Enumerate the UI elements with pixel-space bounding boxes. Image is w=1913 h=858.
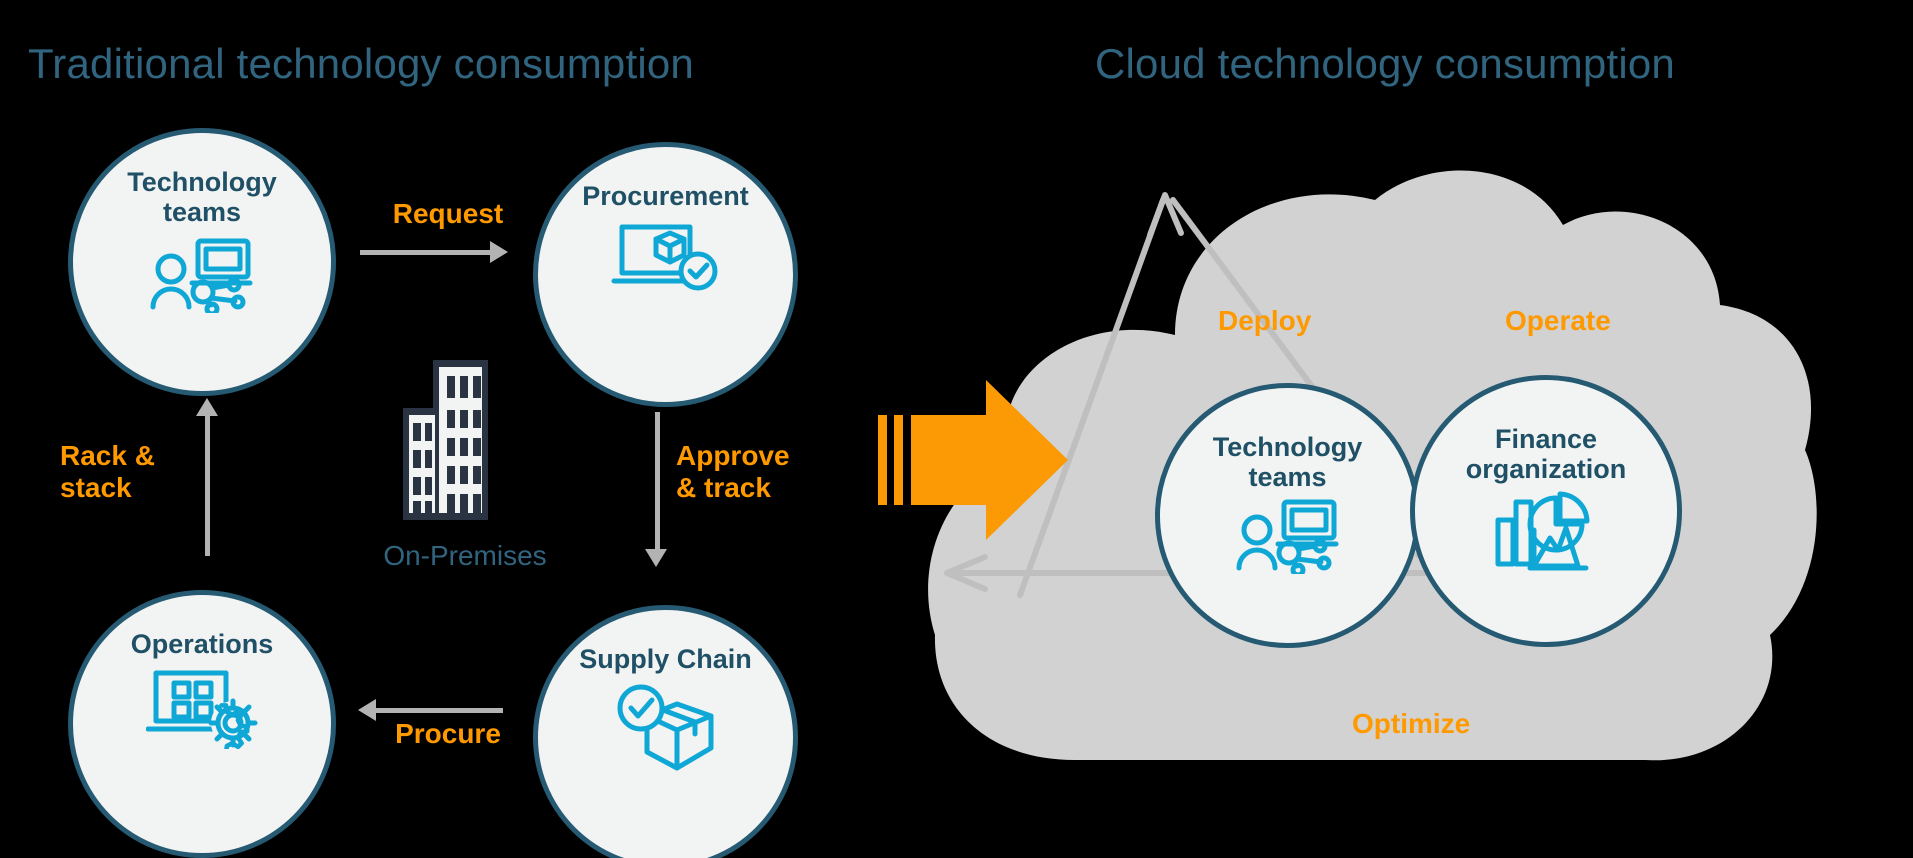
flow-label-procure: Procure xyxy=(368,718,528,750)
connector-procure-line xyxy=(368,708,503,713)
cloud-panel-title: Cloud technology consumption xyxy=(1095,40,1675,88)
orange-right-arrow-icon xyxy=(878,380,1068,545)
node-finance-organization[interactable]: Finance organization xyxy=(1410,375,1682,647)
connector-approve-line xyxy=(655,412,660,555)
connector-approve-arrowhead xyxy=(645,549,667,567)
user-laptop-network-icon xyxy=(150,235,254,318)
flow-label-deploy: Deploy xyxy=(1218,305,1311,337)
charts-analytics-icon xyxy=(1494,488,1598,577)
flow-label-rack-stack: Rack & stack xyxy=(60,440,210,505)
node-label: Operations xyxy=(131,595,274,659)
laptop-cube-check-icon xyxy=(610,219,722,304)
node-label: Supply Chain xyxy=(579,610,752,674)
traditional-panel-title: Traditional technology consumption xyxy=(28,40,694,88)
office-building-icon xyxy=(395,360,500,525)
node-label: Technology teams xyxy=(1213,388,1363,492)
package-check-icon xyxy=(615,682,717,779)
flow-label-operate: Operate xyxy=(1505,305,1611,337)
node-technology-teams-traditional[interactable]: Technology teams xyxy=(68,128,336,396)
diagram-canvas: Traditional technology consumption Cloud… xyxy=(0,0,1913,858)
laptop-grid-gear-icon xyxy=(146,667,258,754)
node-label: Technology teams xyxy=(127,133,277,227)
node-procurement[interactable]: Procurement xyxy=(533,142,798,407)
connector-request-line xyxy=(360,250,495,255)
connector-rack-stack-arrowhead xyxy=(196,398,218,416)
flow-label-approve-track: Approve & track xyxy=(676,440,836,505)
on-premises-caption: On-Premises xyxy=(340,540,590,572)
node-operations[interactable]: Operations xyxy=(68,590,336,858)
node-technology-teams-cloud[interactable]: Technology teams xyxy=(1155,383,1420,648)
flow-label-request: Request xyxy=(368,198,528,230)
node-label: Finance organization xyxy=(1466,380,1627,484)
user-laptop-network-icon xyxy=(1236,496,1340,579)
flow-label-optimize: Optimize xyxy=(1352,708,1470,740)
node-label: Procurement xyxy=(582,147,749,211)
connector-request-arrowhead xyxy=(490,241,508,263)
node-supply-chain[interactable]: Supply Chain xyxy=(533,605,798,858)
